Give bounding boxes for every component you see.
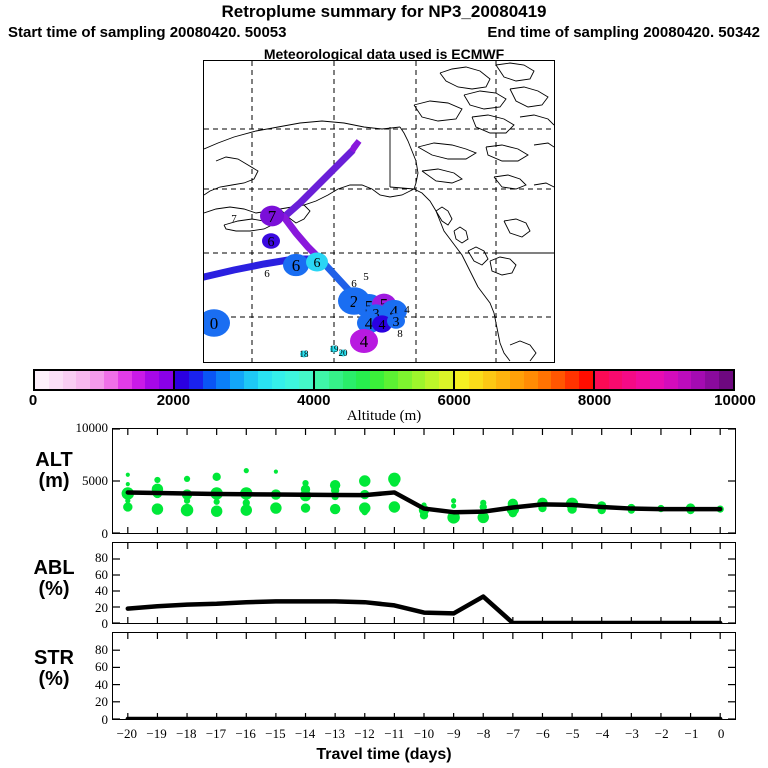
colorbar-segment [538, 371, 552, 389]
colorbar-segment [622, 371, 636, 389]
start-time-label: Start time of sampling 20080420. 50053 [8, 24, 286, 41]
colorbar-tick-label: 8000 [578, 392, 611, 409]
colorbar-segment [343, 371, 357, 389]
y-tick-label: 40 [50, 583, 108, 599]
x-tick-label: −11 [384, 726, 404, 742]
x-tick-label: −16 [236, 726, 256, 742]
colorbar-segment [650, 371, 664, 389]
colorbar-segment [398, 371, 412, 389]
scatter-point [359, 475, 370, 486]
map-marker-label: 4 [379, 318, 386, 333]
colorbar-segment [285, 371, 299, 389]
scatter-point [152, 503, 163, 514]
map-marker-label: 4 [404, 304, 410, 316]
y-tick-label: 60 [50, 567, 108, 583]
colorbar-tick-label: 10000 [714, 392, 756, 409]
colorbar-segment [469, 371, 483, 389]
scatter-point [184, 498, 190, 504]
page-title: Retroplume summary for NP3_20080419 [0, 2, 768, 22]
colorbar-segment [565, 371, 579, 389]
colorbar-segment [104, 371, 118, 389]
colorbar-segment [579, 371, 593, 389]
colorbar-segment [609, 371, 623, 389]
scatter-point [509, 509, 517, 517]
x-tick-label: −1 [685, 726, 699, 742]
x-axis-ticks: −20−19−18−17−16−15−14−13−12−11−10−9−8−7−… [112, 726, 736, 744]
x-axis-label: Travel time (days) [0, 746, 768, 764]
scatter-point [214, 499, 220, 505]
colorbar-axis-label: Altitude (m) [0, 408, 768, 425]
colorbar-segment [132, 371, 146, 389]
abl-plot [113, 543, 735, 623]
colorbar-segment [216, 371, 230, 389]
map-marker-label: 6 [268, 235, 275, 250]
colorbar-segment [230, 371, 244, 389]
y-tick-label: 80 [50, 550, 108, 566]
x-tick-label: −20 [117, 726, 137, 742]
colorbar-segment [705, 371, 719, 389]
scatter-point [154, 477, 160, 483]
marker-layer: 77666656255344443840181920 [204, 206, 410, 360]
alt-plot [113, 429, 735, 533]
y-tick-label: 0 [50, 526, 108, 542]
colorbar-tick-label: 6000 [438, 392, 471, 409]
colorbar-segment [258, 371, 272, 389]
x-tick-label: −12 [354, 726, 374, 742]
x-tick-label: −10 [414, 726, 434, 742]
scatter-point [389, 501, 400, 512]
colorbar-segment [35, 371, 49, 389]
colorbar-segment [118, 371, 132, 389]
scatter-point [126, 482, 130, 486]
scatter-point [123, 502, 132, 511]
colorbar-segment [551, 371, 565, 389]
alt-chart-panel[interactable] [112, 428, 736, 534]
y-tick-label: 10000 [50, 420, 108, 436]
colorbar-segment [455, 371, 469, 389]
colorbar-segment [496, 371, 510, 389]
x-tick-label: −7 [506, 726, 520, 742]
scatter-point [451, 498, 456, 503]
scatter-point [244, 468, 249, 473]
colorbar-segment [595, 371, 609, 389]
alt-label-line1: ALT [6, 450, 102, 471]
map-marker-label: 18 [300, 349, 310, 359]
colorbar-segment [510, 371, 524, 389]
colorbar-segment [189, 371, 203, 389]
scatter-point [181, 504, 193, 516]
colorbar-segment [439, 371, 453, 389]
colorbar-segment [678, 371, 692, 389]
colorbar-segment [483, 371, 497, 389]
str-plot [113, 633, 735, 719]
scatter-point [362, 509, 368, 515]
x-tick-label: −9 [447, 726, 461, 742]
scatter-point [274, 470, 278, 474]
scatter-point [301, 503, 310, 512]
y-tick-label: 40 [50, 677, 108, 693]
y-tick-label: 20 [50, 600, 108, 616]
map-marker-label: 6 [292, 256, 301, 275]
colorbar-segment [425, 371, 439, 389]
scatter-point [390, 477, 399, 486]
map-marker-label: 6 [314, 256, 321, 271]
colorbar-segment [49, 371, 63, 389]
x-tick-label: −8 [477, 726, 491, 742]
colorbar-tick-label: 2000 [157, 392, 190, 409]
colorbar-segment [90, 371, 104, 389]
map-marker-label: 0 [210, 314, 219, 333]
colorbar-segment [329, 371, 343, 389]
x-tick-label: −3 [625, 726, 639, 742]
y-tick-label: 80 [50, 642, 108, 658]
scatter-point [126, 473, 130, 477]
y-tick-label: 0 [50, 616, 108, 632]
colorbar-segment [272, 371, 286, 389]
y-tick-label: 20 [50, 694, 108, 710]
map-marker-label: 6 [264, 268, 270, 280]
x-tick-label: −6 [536, 726, 550, 742]
scatter-point [211, 505, 222, 516]
trajectory-map[interactable]: 77666656255344443840181920 [203, 60, 555, 363]
scatter-point [270, 502, 281, 513]
x-tick-label: −2 [655, 726, 669, 742]
x-tick-label: −15 [265, 726, 285, 742]
colorbar-segment [145, 371, 159, 389]
colorbar-segment [356, 371, 370, 389]
colorbar-segment [63, 371, 77, 389]
scatter-point [184, 476, 190, 482]
colorbar-segment [636, 371, 650, 389]
colorbar-segment [412, 371, 426, 389]
scatter-point [420, 511, 428, 519]
colorbar-tick-label: 4000 [297, 392, 330, 409]
colorbar-segment [315, 371, 329, 389]
abl-chart-panel[interactable] [112, 542, 736, 624]
scatter-point [330, 504, 340, 514]
map-marker-label: 7 [231, 213, 237, 225]
x-tick-label: −5 [566, 726, 580, 742]
x-tick-label: −19 [146, 726, 166, 742]
colorbar-segment [384, 371, 398, 389]
str-chart-panel[interactable] [112, 632, 736, 720]
end-time-label: End time of sampling 20080420. 50342 [487, 24, 760, 41]
colorbar-segment [664, 371, 678, 389]
scatter-point [241, 504, 252, 515]
colorbar-segment [299, 371, 313, 389]
altitude-colorbar[interactable] [33, 369, 735, 391]
colorbar-segment [691, 371, 705, 389]
colorbar-segment [244, 371, 258, 389]
map-marker-label: 4 [360, 332, 369, 351]
colorbar-segment [76, 371, 90, 389]
map-marker-label: 8 [397, 328, 403, 340]
map-marker-label: 5 [363, 271, 369, 283]
x-tick-label: −17 [206, 726, 226, 742]
map-canvas: 77666656255344443840181920 [204, 61, 554, 362]
colorbar-segment [719, 371, 733, 389]
x-tick-label: −13 [325, 726, 345, 742]
colorbar-tick-label: 0 [29, 392, 37, 409]
colorbar-segment [175, 371, 189, 389]
colorbar-gradient [33, 369, 735, 391]
x-tick-label: −18 [176, 726, 196, 742]
y-tick-label: 0 [50, 712, 108, 728]
x-tick-label: 0 [718, 726, 725, 742]
map-marker-label: 20 [339, 348, 349, 358]
x-tick-label: −14 [295, 726, 315, 742]
scatter-point [451, 503, 456, 508]
colorbar-segment [159, 371, 173, 389]
y-tick-label: 5000 [50, 473, 108, 489]
map-marker-label: 7 [268, 207, 277, 226]
colorbar-segment [370, 371, 384, 389]
x-tick-label: −4 [595, 726, 609, 742]
colorbar-segment [203, 371, 217, 389]
y-tick-label: 60 [50, 659, 108, 675]
colorbar-segment [524, 371, 538, 389]
scatter-point [213, 473, 221, 481]
